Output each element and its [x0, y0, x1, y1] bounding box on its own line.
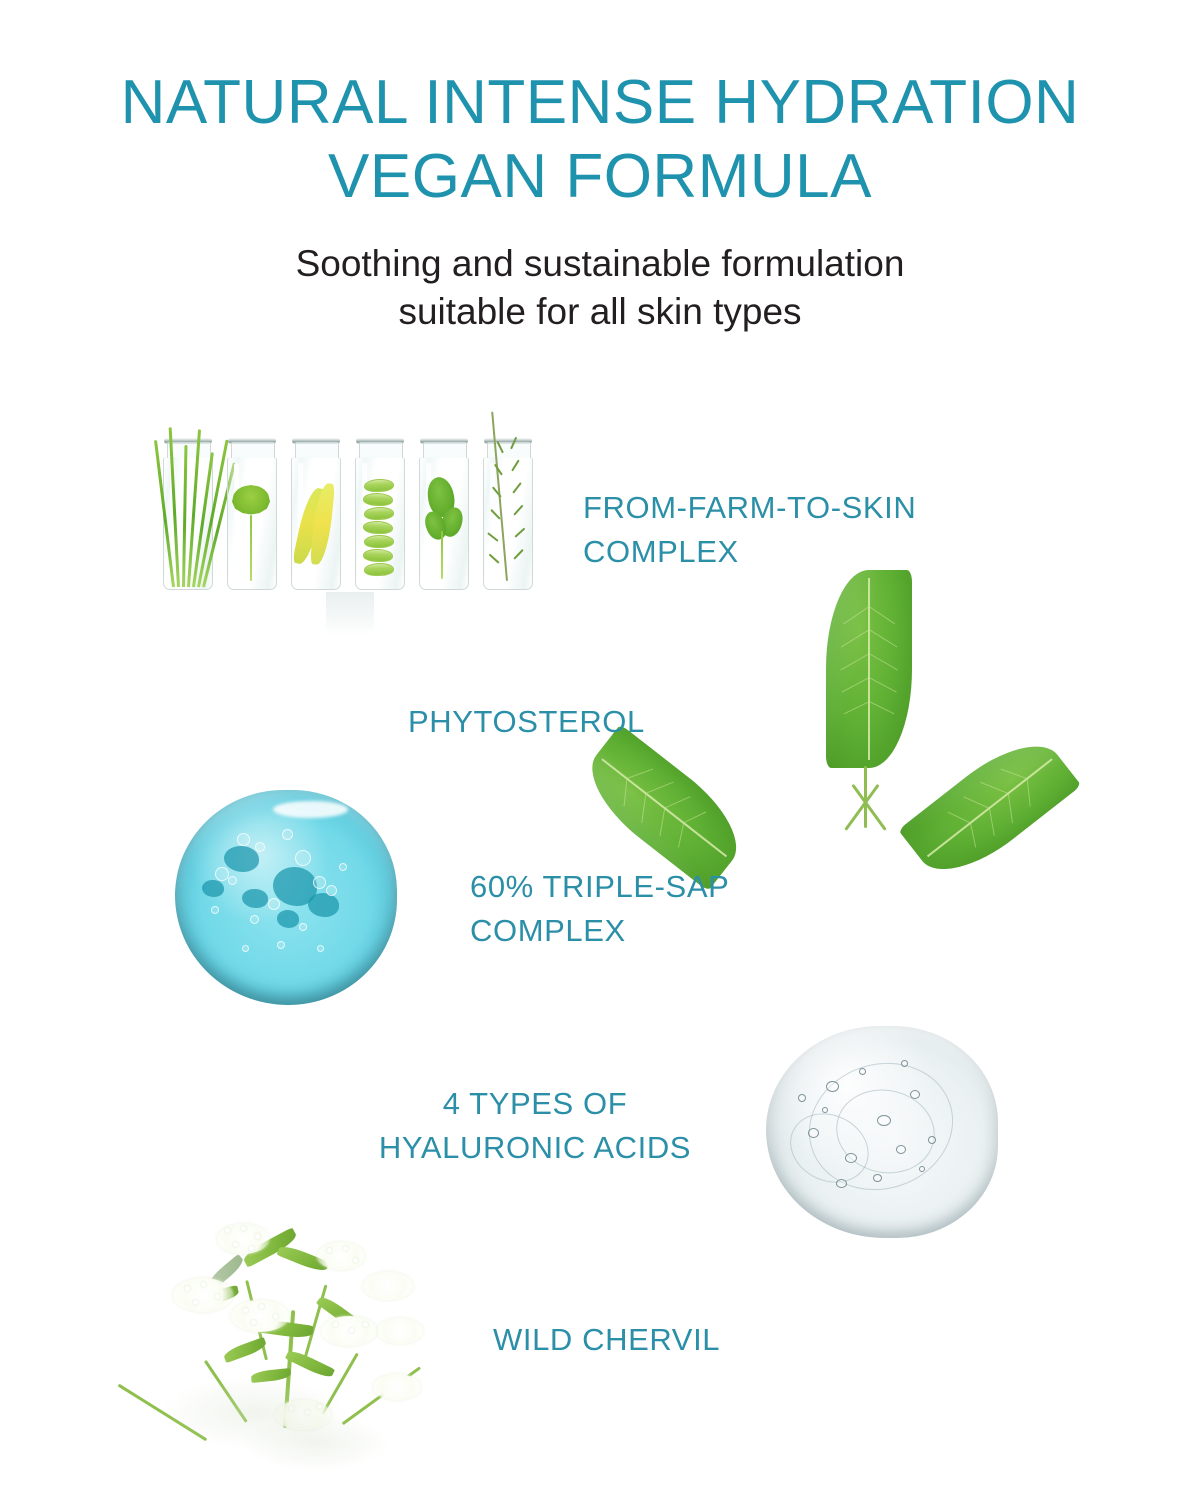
ingredient-label-wild-chervil: WILD CHERVIL: [493, 1318, 793, 1362]
vial-neck: [423, 442, 467, 458]
flower-umbel: [317, 1242, 365, 1270]
leaf-center: [826, 570, 912, 768]
page-subtitle: Soothing and sustainable formulation sui…: [0, 214, 1200, 336]
hyaluronic-acid-clear-gel-image: [766, 1026, 998, 1238]
flower-umbel: [363, 1272, 413, 1300]
infographic-page: NATURAL INTENSE HYDRATION VEGAN FORMULA …: [0, 0, 1200, 1500]
vial-gotu-kola: [227, 457, 277, 590]
vial-shine: [490, 463, 495, 569]
flower-umbel: [373, 1374, 421, 1400]
vial-neck: [167, 442, 211, 458]
ingredient-label-phytosterol: PHYTOSTEROL: [408, 700, 708, 744]
ingredient-label-triple-sap-complex: 60% TRIPLE-SAP COMPLEX: [470, 865, 810, 953]
gel-highlight: [273, 801, 348, 818]
page-title: NATURAL INTENSE HYDRATION VEGAN FORMULA: [0, 66, 1200, 214]
vial-shine: [234, 463, 239, 569]
vial-aloe-vera: [355, 457, 405, 590]
header: NATURAL INTENSE HYDRATION VEGAN FORMULA …: [0, 66, 1200, 336]
vial-wheatgrass: [163, 457, 213, 590]
vial-rosemary: [483, 457, 533, 590]
ingredient-label-hyaluronic-acids: 4 TYPES OF HYALURONIC ACIDS: [340, 1082, 730, 1170]
flower-umbel: [377, 1318, 423, 1344]
vial-neck: [359, 442, 403, 458]
vial-neck: [231, 442, 275, 458]
leaf-right: [898, 724, 1082, 891]
ingredient-label-from-farm-to-skin: FROM-FARM-TO-SKIN COMPLEX: [583, 486, 1023, 574]
vial-mint: [419, 457, 469, 590]
triple-sap-blue-gel-image: [175, 790, 397, 1005]
phytosterol-leaves-image: [668, 562, 1088, 842]
vial-avocado: [291, 457, 341, 590]
vial-neck: [295, 442, 339, 458]
from-farm-to-skin-vials-image: [163, 404, 531, 634]
wild-chervil-image: [145, 1218, 435, 1463]
